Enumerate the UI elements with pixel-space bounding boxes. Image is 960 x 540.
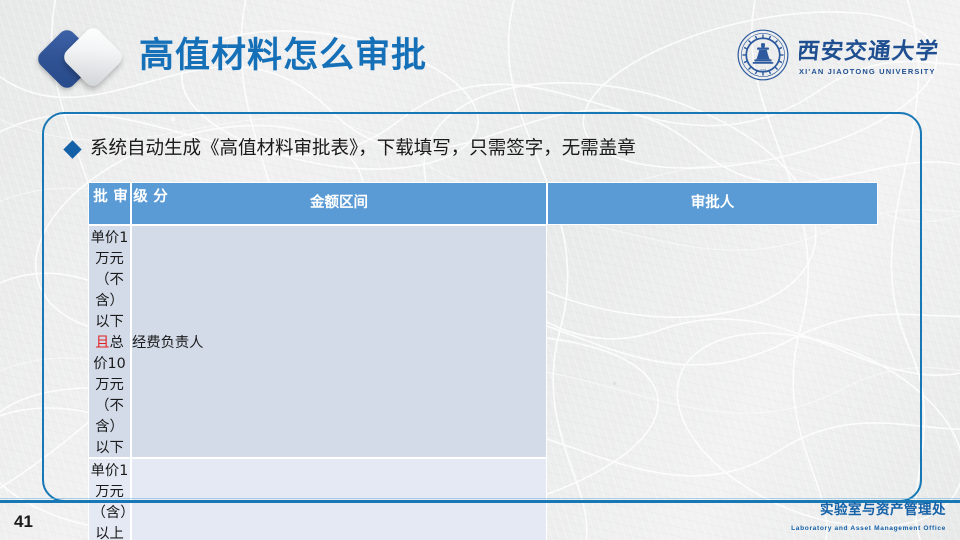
content-panel: 系统自动生成《高值材料审批表》，下载填写，只需签字，无需盖章 分级审批 金额区间… [42, 112, 922, 502]
university-logo: 1896 西安交通大学 XI'AN JIAOTONG UNIVERSITY [736, 26, 946, 84]
highlighted-conjunction: 且 [95, 335, 109, 351]
page-title: 高值材料怎么审批 [139, 33, 427, 79]
column-header-person: 审批人 [547, 182, 878, 225]
footer-rule [0, 500, 960, 503]
page-number: 41 [14, 512, 33, 532]
footer-department-en: Laboratory and Asset Management Office [791, 525, 946, 532]
table-head: 分级审批 金额区间 审批人 [88, 182, 878, 225]
cell-amount-range: 单价1万元（含）以上或总价10万元（含）至50万元（不含） [88, 458, 131, 540]
table-row: 单价1万元（含）以上或总价10万元（含）至50万元（不含）经费负责人、所属院（部… [88, 458, 878, 540]
category-label: 分级审批 [89, 183, 169, 212]
table-body: 单价1万元（不含）以下且总价10万元（不含）以下经费负责人单价1万元（含）以上或… [88, 225, 878, 540]
university-wordmark: 西安交通大学 XI'AN JIAOTONG UNIVERSITY [799, 34, 960, 76]
table-header-row: 分级审批 金额区间 审批人 [88, 182, 878, 225]
cell-approver: 经费负责人 [131, 225, 547, 458]
approval-table: 分级审批 金额区间 审批人 单价1万元（不含）以下且总价10万元（不含）以下经费… [88, 182, 878, 540]
svg-text:西安交通大学: 西安交通大学 [799, 38, 941, 65]
column-header-range: 金额区间 [131, 182, 547, 225]
diamond-bullet-icon [63, 140, 81, 158]
category-cell: 分级审批 [88, 182, 131, 225]
slide-root: 高值材料怎么审批 [0, 0, 960, 540]
range-text-part: 单价1万元（不含）以下 [91, 230, 129, 330]
table-row: 单价1万元（不含）以下且总价10万元（不含）以下经费负责人 [88, 225, 878, 458]
xjtu-seal-icon: 1896 [736, 28, 790, 82]
university-name-cn-calligraphy: 西安交通大学 [799, 34, 960, 66]
cell-approver: 经费负责人、所属院（部、处） [131, 458, 547, 540]
cell-amount-range: 单价1万元（不含）以下且总价10万元（不含）以下 [88, 225, 131, 458]
university-name-en: XI'AN JIAOTONG UNIVERSITY [799, 67, 960, 76]
svg-text:1896: 1896 [759, 68, 766, 72]
footer-department-cn: 实验室与资产管理处 [820, 498, 946, 518]
bullet-text: 系统自动生成《高值材料审批表》，下载填写，只需签字，无需盖章 [90, 136, 636, 162]
decorative-diamond-logo [40, 28, 136, 90]
footer-rule-thin [0, 498, 960, 499]
range-text-part: 总价10万元（不含）以下 [93, 335, 126, 456]
slide-header: 高值材料怎么审批 [0, 0, 960, 100]
bullet-line: 系统自动生成《高值材料审批表》，下载填写，只需签字，无需盖章 [66, 136, 636, 162]
